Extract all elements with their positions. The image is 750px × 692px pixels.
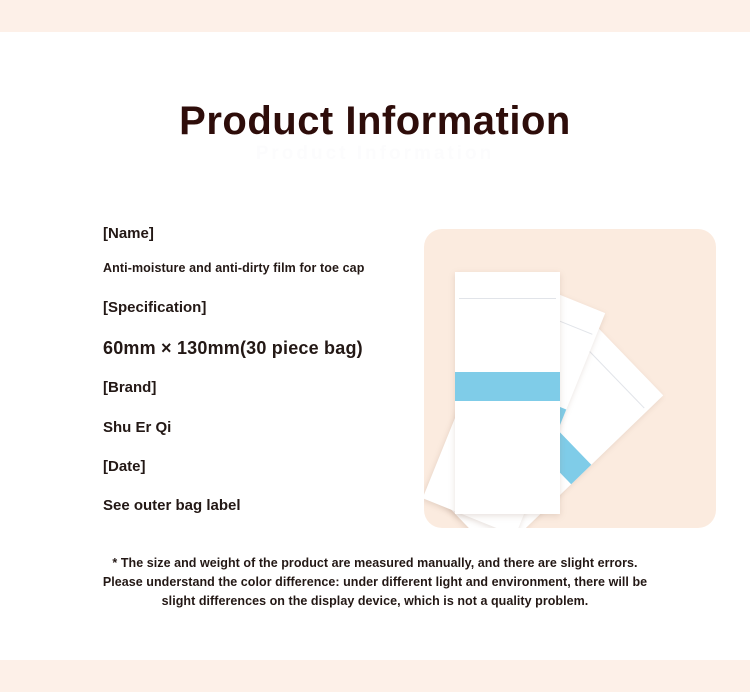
spec-value-brand: Shu Er Qi xyxy=(103,417,403,438)
bottom-decorative-band xyxy=(0,660,750,692)
footnote-line-1: * The size and weight of the product are… xyxy=(0,554,750,573)
bag-seam-line xyxy=(459,298,556,299)
product-bag-front xyxy=(455,272,560,514)
bag-blue-stripe xyxy=(455,372,560,401)
footnote-disclaimer: * The size and weight of the product are… xyxy=(0,554,750,611)
specification-list: [Name] Anti-moisture and anti-dirty film… xyxy=(103,224,403,516)
spec-item-name: [Name] Anti-moisture and anti-dirty film… xyxy=(103,224,403,276)
bag-seam-line xyxy=(583,344,645,408)
spec-value-name: Anti-moisture and anti-dirty film for to… xyxy=(103,260,403,276)
spec-label-specification: [Specification] xyxy=(103,298,403,318)
footnote-line-2: Please understand the color difference: … xyxy=(0,573,750,592)
spec-item-specification: [Specification] 60mm × 130mm(30 piece ba… xyxy=(103,298,403,360)
spec-label-brand: [Brand] xyxy=(103,378,403,398)
spec-value-specification: 60mm × 130mm(30 piece bag) xyxy=(103,336,403,360)
spec-label-name: [Name] xyxy=(103,224,403,244)
page-title-ghost-watermark: Product Information xyxy=(0,142,750,166)
spec-label-date: [Date] xyxy=(103,457,403,477)
spec-value-date: See outer bag label xyxy=(103,495,403,516)
top-decorative-band xyxy=(0,0,750,32)
page-title-container: Product Information xyxy=(0,96,750,146)
product-information-page: Product Information Product Information … xyxy=(0,0,750,692)
spec-item-brand: [Brand] Shu Er Qi xyxy=(103,378,403,438)
product-photo-panel xyxy=(424,229,716,528)
footnote-line-3: slight differences on the display device… xyxy=(0,592,750,611)
spec-item-date: [Date] See outer bag label xyxy=(103,457,403,516)
page-title: Product Information xyxy=(179,96,571,146)
